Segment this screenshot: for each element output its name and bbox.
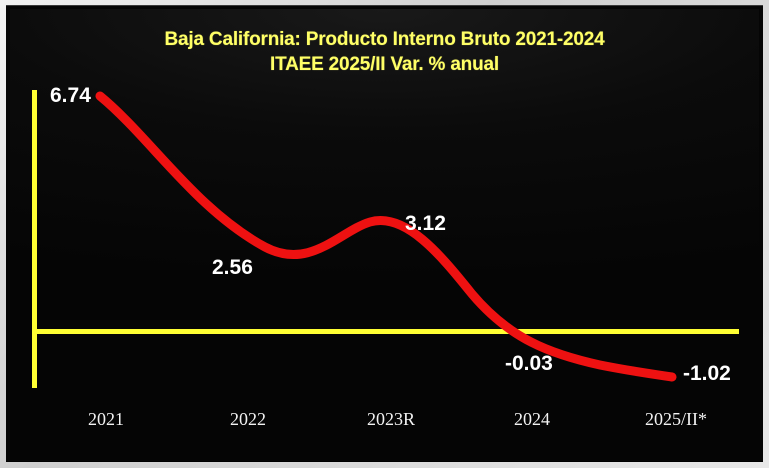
data-label-2025ii: -1.02 [683, 363, 731, 384]
x-tick-2024: 2024 [514, 409, 550, 429]
chart-frame: Baja California: Producto Interno Bruto … [0, 0, 769, 468]
x-tick-2022: 2022 [230, 409, 266, 429]
data-label-2021: 6.74 [50, 85, 91, 106]
x-tick-2025ii: 2025/II* [645, 409, 707, 429]
x-tick-2021: 2021 [88, 409, 124, 429]
series-path [100, 96, 672, 377]
data-label-2024: -0.03 [505, 353, 553, 374]
data-label-2023r: 3.12 [405, 213, 446, 234]
data-label-2022: 2.56 [212, 257, 253, 278]
chart-plot-area: Baja California: Producto Interno Bruto … [10, 9, 759, 458]
x-tick-2023r: 2023R [367, 409, 415, 429]
series-line-var-anual [10, 9, 759, 458]
